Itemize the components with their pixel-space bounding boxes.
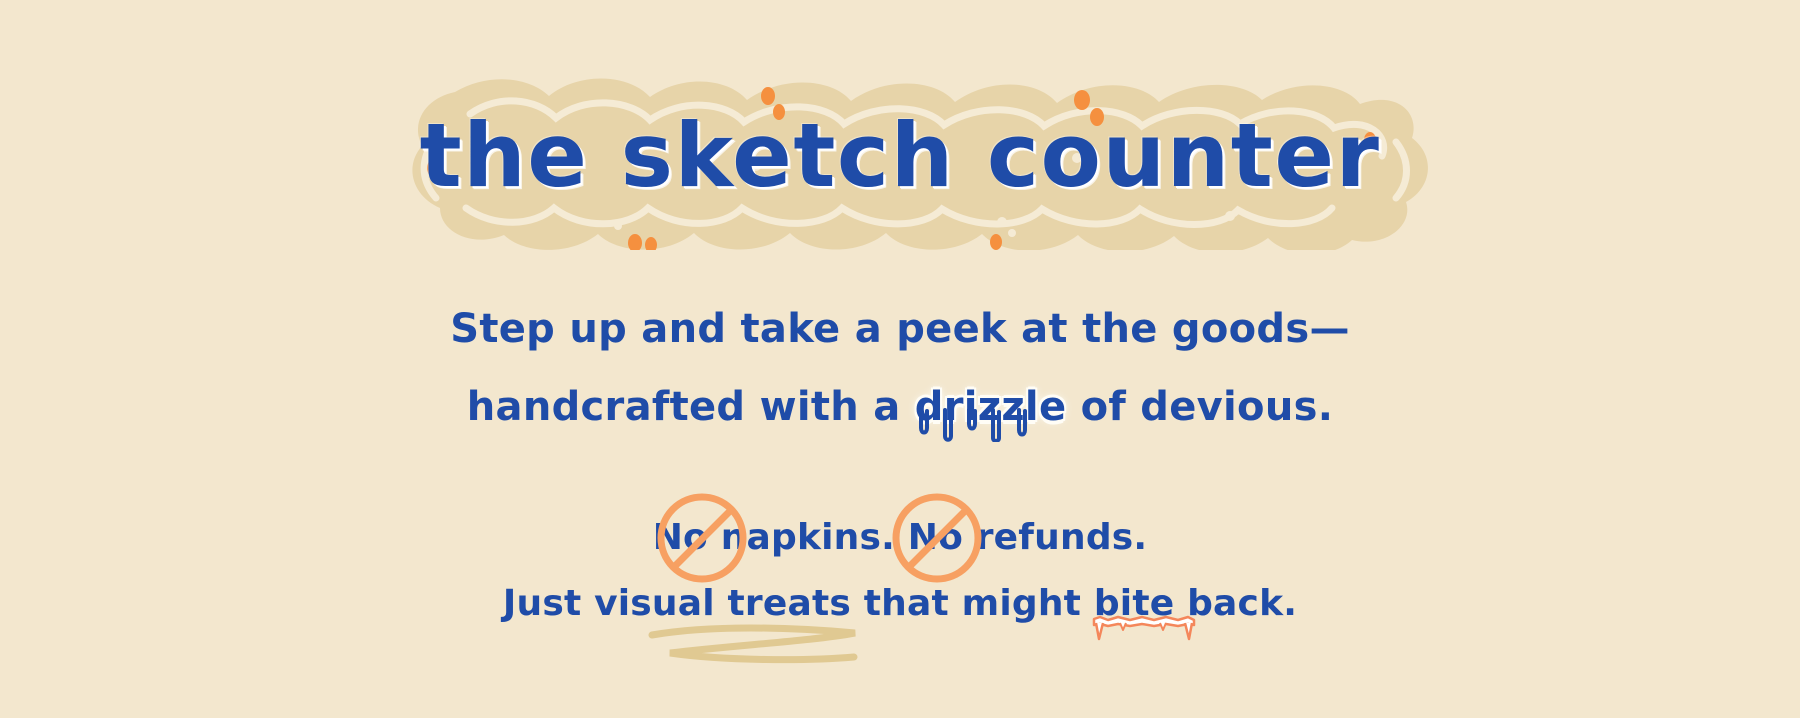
subtitle-line-2-before: handcrafted with a <box>467 384 915 430</box>
page-title-wrapper: the sketch counter <box>0 70 1800 250</box>
tagline-line-1-text: No napkins. No refunds. <box>653 517 1148 558</box>
drizzle-text: drizzle <box>915 384 1067 430</box>
subtitle-block: Step up and take a peek at the goods— ha… <box>0 290 1800 446</box>
poster-canvas: the sketch counter Step up and take a pe… <box>0 0 1800 718</box>
subtitle-line-1: Step up and take a peek at the goods— <box>0 290 1800 368</box>
tagline-line-2: Just visual treats that might bite back. <box>0 571 1800 637</box>
subtitle-line-2: handcrafted with a drizzle of devious. <box>0 368 1800 446</box>
tagline-line-2-text: Just visual treats that might bite back. <box>503 583 1297 624</box>
subtitle-line-1-text: Step up and take a peek at the goods— <box>450 306 1350 352</box>
scribble-underline-icon <box>640 623 890 667</box>
drizzle-highlight: drizzle <box>915 368 1067 446</box>
tagline-line-1: No napkins. No refunds. <box>0 505 1800 571</box>
tagline-block: No napkins. No refunds. Just visual trea… <box>0 505 1800 637</box>
subtitle-line-2-after: of devious. <box>1066 384 1333 430</box>
title-banner: the sketch counter <box>0 70 1800 250</box>
page-title: the sketch counter <box>420 112 1381 200</box>
